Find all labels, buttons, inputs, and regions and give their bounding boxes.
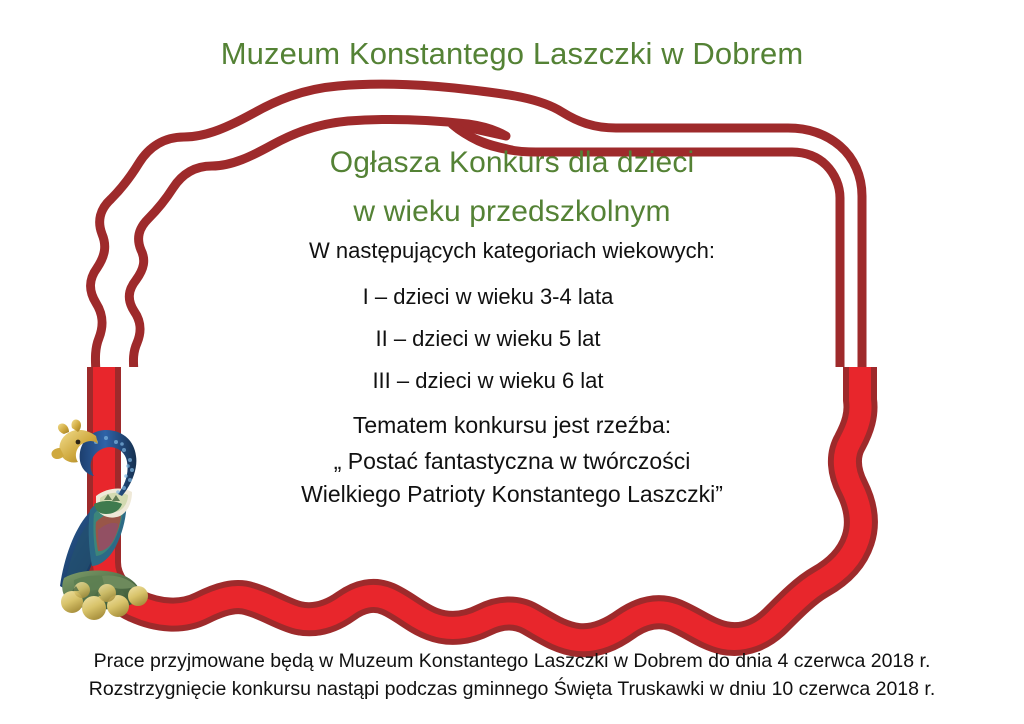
headline-line-1: Ogłasza Konkurs dla dzieci <box>0 146 1024 180</box>
theme-line-2: „ Postać fantastyczna w twórczości <box>0 448 1024 475</box>
category-item-3: III – dzieci w wieku 6 lat <box>0 368 1024 394</box>
category-item-2: II – dzieci w wieku 5 lat <box>0 326 1024 352</box>
categories-intro: W następujących kategoriach wiekowych: <box>0 238 1024 264</box>
footer-line-1: Prace przyjmowane będą w Muzeum Konstant… <box>0 650 1024 673</box>
poster-canvas: Muzeum Konstantego Laszczki w Dobrem Ogł… <box>0 0 1024 724</box>
page-title: Muzeum Konstantego Laszczki w Dobrem <box>0 36 1024 72</box>
footer-line-2: Rozstrzygnięcie konkursu nastąpi podczas… <box>0 678 1024 701</box>
category-item-1: I – dzieci w wieku 3-4 lata <box>0 284 1024 310</box>
poster-text-layer: Muzeum Konstantego Laszczki w Dobrem Ogł… <box>0 0 1024 724</box>
theme-line-1: Tematem konkursu jest rzeźba: <box>0 412 1024 439</box>
headline-line-2: w wieku przedszkolnym <box>0 195 1024 229</box>
theme-line-3: Wielkiego Patrioty Konstantego Laszczki” <box>0 481 1024 508</box>
